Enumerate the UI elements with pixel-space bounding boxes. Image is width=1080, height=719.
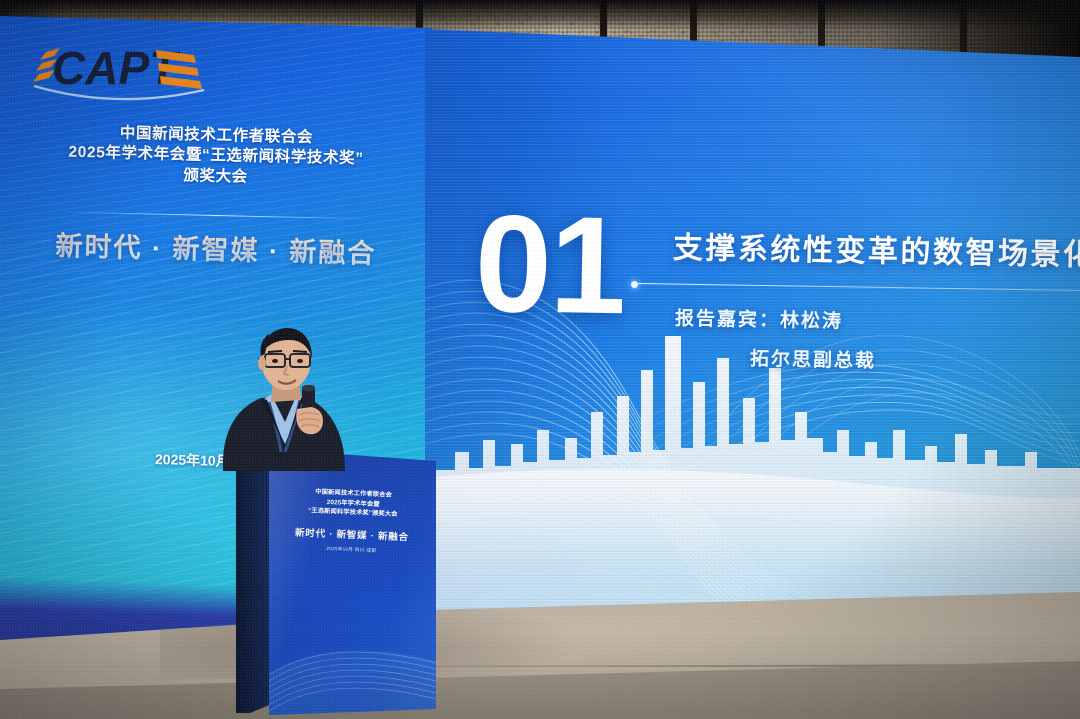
microphone-and-hand xyxy=(285,385,331,445)
section-number: 01 xyxy=(474,195,626,336)
podium-wave-graphic xyxy=(269,605,436,715)
podium: 中国新闻技术工作者联合会 2025年学术年会暨 “王选新闻科学技术奖”颁奖大会 … xyxy=(236,447,448,719)
logo-right-orange-bars xyxy=(156,50,202,89)
podium-wave-fill xyxy=(269,650,436,715)
speaker-brow-left xyxy=(268,351,282,352)
podium-slogan: 新时代 · 新智媒 · 新融合 xyxy=(269,523,436,544)
main-led-screen: 01 支撑系统性变革的数智场景化服务 报告嘉宾：林松涛 拓尔思副总裁 xyxy=(425,0,1080,610)
conference-stage-photo: CAPT 中国新闻技术工作者联合会 2025年学术年会暨“王选新闻科学技术奖” … xyxy=(0,0,1080,719)
guest-role-line: 拓尔思副总裁 xyxy=(750,344,876,373)
podium-front-panel: 中国新闻技术工作者联合会 2025年学术年会暨 “王选新闻科学技术奖”颁奖大会 … xyxy=(269,447,436,715)
speaker-brow-right xyxy=(293,351,307,352)
guest-speaker-line: 报告嘉宾：林松涛 xyxy=(675,304,843,334)
section-title: 支撑系统性变革的数智场景化服务 xyxy=(673,223,1080,276)
podium-side-panel xyxy=(236,451,274,713)
podium-branding: 中国新闻技术工作者联合会 2025年学术年会暨 “王选新闻科学技术奖”颁奖大会 … xyxy=(269,486,436,557)
capt-logo: CAPT xyxy=(24,34,209,108)
banner-org-title: 中国新闻技术工作者联合会 2025年学术年会暨“王选新闻科学技术奖” 颁奖大会 xyxy=(0,121,432,192)
